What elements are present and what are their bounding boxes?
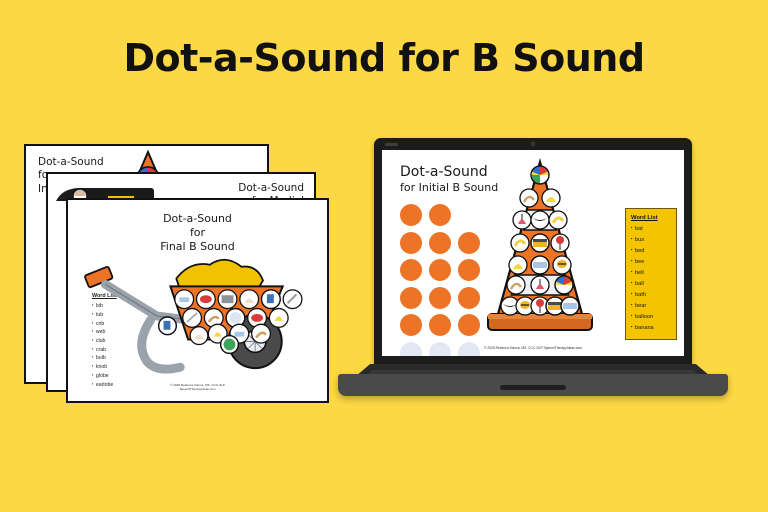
dot-filled[interactable]: [400, 232, 422, 254]
list-item: bath: [631, 290, 672, 301]
dot-filled[interactable]: [458, 259, 480, 281]
paper-front-heading-line1: Dot-a-Sound: [163, 212, 232, 225]
list-item: bat: [631, 224, 672, 235]
dot-grid[interactable]: [400, 204, 480, 356]
laptop-screen[interactable]: Dot-a-Sound for Initial B Sound: [382, 150, 684, 356]
laptop-lid: Dot-a-Sound for Initial B Sound: [374, 138, 692, 372]
screen-copyright: © 2025 Rebecca Vianca, MS, CCC-SLP Speec…: [382, 346, 684, 351]
traffic-cone-svg: [478, 158, 602, 343]
dot-filled[interactable]: [429, 314, 451, 336]
dot-filled[interactable]: [429, 232, 451, 254]
dot-row: [400, 259, 480, 281]
traffic-cone-chart: [478, 158, 602, 343]
list-item: bus: [631, 235, 672, 246]
speaker-slot: [385, 143, 398, 146]
dot-row: [400, 314, 480, 336]
camera-icon: [531, 142, 535, 146]
screen-word-list: Word List bat bus bed bee bell ball bath…: [625, 208, 677, 340]
dot-filled[interactable]: [400, 287, 422, 309]
wheelbarrow-illustration: [68, 242, 327, 382]
dot-row: [400, 287, 480, 309]
paper-front-heading-line2: for: [190, 226, 205, 239]
list-item: bell: [631, 268, 672, 279]
list-item: banana: [631, 323, 672, 334]
list-item: bee: [631, 257, 672, 268]
dot-filled[interactable]: [429, 204, 451, 226]
screen-word-list-title: Word List: [631, 213, 672, 223]
trackpad-notch[interactable]: [500, 385, 566, 390]
dot-filled[interactable]: [429, 287, 451, 309]
laptop-mockup: Dot-a-Sound for Initial B Sound: [336, 138, 730, 410]
list-item: ball: [631, 279, 672, 290]
dot-filled[interactable]: [458, 232, 480, 254]
dot-filled[interactable]: [400, 259, 422, 281]
dot-row: [400, 232, 480, 254]
screenshot-canvas: Dot-a-Sound for B Sound Dot-a-Sound for …: [0, 0, 768, 512]
dot-filled[interactable]: [400, 204, 422, 226]
dot-filled[interactable]: [429, 259, 451, 281]
screen-word-list-items: bat bus bed bee bell ball bath bear ball…: [631, 224, 672, 334]
dot-row: [400, 204, 480, 226]
list-item: bear: [631, 301, 672, 312]
front-copyright-line2: SpeechTherapyIdeas.com: [179, 387, 215, 391]
dot-filled[interactable]: [458, 314, 480, 336]
page-title: Dot-a-Sound for B Sound: [0, 36, 768, 80]
dot-filled[interactable]: [458, 287, 480, 309]
laptop-top-bezel: [374, 138, 692, 149]
front-copyright: © 2025 Rebecca Vianca, MS, CCC-SLP Speec…: [68, 383, 327, 392]
list-item: balloon: [631, 312, 672, 323]
front-copyright-line1: © 2025 Rebecca Vianca, MS, CCC-SLP: [170, 383, 225, 387]
paper-final-b-sound[interactable]: Dot-a-Sound for Final B Sound Word List …: [66, 198, 329, 403]
list-item: bed: [631, 246, 672, 257]
dot-filled[interactable]: [400, 314, 422, 336]
